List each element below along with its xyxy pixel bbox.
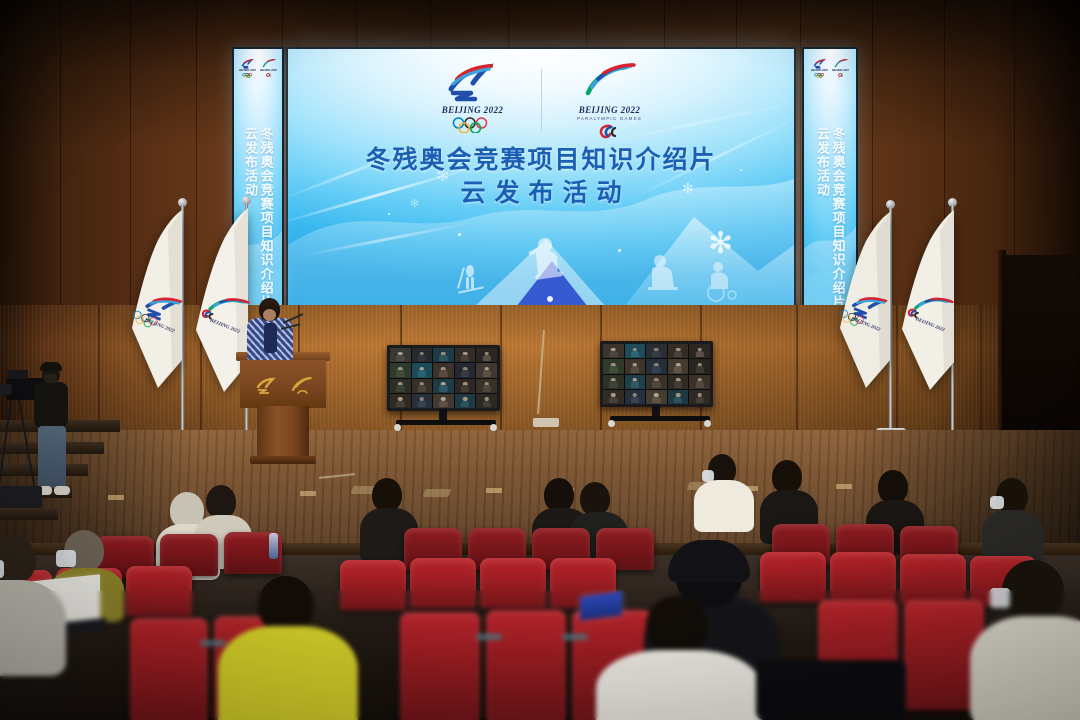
participant-tile	[625, 359, 646, 373]
operator-shoe	[54, 486, 70, 495]
face-mask-icon	[56, 550, 76, 567]
olympic-wordmark: BEIJING 2022	[442, 105, 504, 115]
participant-tile	[646, 359, 667, 373]
side-paralympic-wordmark: BEIJING 2022	[260, 69, 277, 72]
participant-tile	[689, 344, 710, 358]
beijing-2022-paralympic-emblem-icon	[574, 63, 646, 103]
auditorium-seat[interactable]	[830, 552, 896, 602]
face-mask-icon	[0, 560, 4, 578]
person-head	[878, 470, 908, 504]
beijing-2022-paralympic-emblem-icon	[832, 59, 850, 69]
beijing-2022-olympic-emblem-icon	[437, 63, 509, 103]
person-shoulders	[596, 650, 762, 720]
stage-power-box	[533, 418, 559, 427]
podium-body	[240, 360, 326, 408]
person-shoulders	[0, 580, 66, 676]
participant-tile-grid	[603, 344, 710, 404]
seat-armrest	[562, 634, 588, 640]
participant-tile	[433, 379, 454, 393]
equipment-body	[756, 660, 906, 720]
olympic-rings-icon	[242, 73, 254, 78]
camera-operator-left	[24, 358, 80, 508]
participant-tile	[390, 363, 411, 377]
participant-tile	[433, 394, 454, 408]
participant-tile	[455, 379, 476, 393]
participant-tile	[412, 363, 433, 377]
monitor-caster	[704, 420, 711, 427]
paralympic-agitos-icon	[837, 73, 845, 77]
side-olympic-emblem-block: BEIJING 2022	[239, 59, 257, 78]
paralympic-agitos-icon	[265, 73, 273, 77]
screen-emblem-row: BEIJING 2022	[288, 63, 794, 139]
person-shoulders	[218, 626, 358, 720]
olympic-rings-icon	[814, 73, 826, 78]
screen-title-line-1: 冬残奥会竞赛项目知识介绍片	[288, 145, 794, 175]
auditorium-seat[interactable]	[410, 558, 476, 608]
speaking-podium[interactable]	[240, 352, 326, 464]
beijing-2022-olympic-emblem-icon	[239, 59, 257, 69]
side-panel-emblem-row: BEIJING 2022 BEIJING 2022	[804, 49, 856, 78]
paralympic-emblem-block: BEIJING 2022 PARALYMPIC GAMES	[550, 63, 670, 139]
podium-emblem-left-icon	[252, 376, 278, 396]
snowflake-icon: ✻	[708, 229, 733, 259]
participant-tile	[646, 344, 667, 358]
conference-hall-photo: ✻ ✻ ✻ ✻ ✻ BEIJING 2022	[0, 0, 1080, 720]
speaker-at-podium	[247, 298, 293, 360]
snow-dot	[388, 213, 390, 215]
flag-paralympic-right: BEIJING 2022	[896, 198, 991, 450]
monitor-caster	[394, 424, 401, 431]
participant-tile	[455, 363, 476, 377]
participant-tile	[455, 394, 476, 408]
camera-hood	[8, 370, 28, 379]
participant-tile	[646, 375, 667, 389]
participant-tile	[412, 348, 433, 362]
svg-text:BEIJING 2022: BEIJING 2022	[208, 317, 241, 335]
participant-tile	[689, 359, 710, 373]
face-mask-icon	[990, 588, 1010, 608]
participant-tile	[433, 348, 454, 362]
participant-tile	[668, 375, 689, 389]
participant-tile	[668, 344, 689, 358]
seat-armrest	[476, 634, 502, 640]
participant-tile	[476, 348, 497, 362]
person-head	[1002, 560, 1064, 622]
monitor-stand-legs-left	[396, 420, 496, 425]
person-head	[772, 460, 802, 494]
olympic-emblem-block: BEIJING 2022	[413, 63, 533, 133]
participant-tile	[625, 344, 646, 358]
participant-tile	[625, 390, 646, 404]
person-head	[372, 478, 402, 512]
beijing-2022-paralympic-emblem-icon	[260, 59, 278, 69]
seat-armrest	[200, 640, 226, 646]
olympic-rings-icon	[451, 117, 495, 133]
participant-tile	[390, 348, 411, 362]
monitor-caster	[608, 420, 615, 427]
screen-title-block: 冬残奥会竞赛项目知识介绍片 云发布活动	[288, 145, 794, 213]
operator-torso	[34, 382, 68, 428]
floor-tape-marker	[486, 488, 502, 493]
water-bottle	[269, 533, 278, 559]
monitor-caster	[490, 424, 497, 431]
floor-outlet-plate	[423, 489, 452, 497]
paralympic-wordmark: BEIJING 2022	[579, 105, 641, 115]
participant-tile	[476, 363, 497, 377]
side-olympic-wordmark: BEIJING 2022	[811, 69, 828, 72]
person-head	[544, 478, 574, 512]
snow-dot	[618, 249, 621, 252]
person-head	[646, 596, 708, 656]
participant-tile	[390, 379, 411, 393]
emblem-divider	[541, 69, 542, 131]
video-conference-wall-right[interactable]	[600, 341, 713, 407]
face-mask-icon	[44, 374, 57, 383]
person-shoulders	[694, 480, 754, 532]
podium-base	[250, 456, 316, 464]
person-shoulders	[970, 616, 1080, 720]
participant-tile	[689, 375, 710, 389]
equipment-case	[0, 486, 42, 508]
participant-tile	[689, 390, 710, 404]
floor-tape-marker	[300, 491, 316, 496]
person-head	[580, 482, 610, 516]
participant-tile	[603, 390, 624, 404]
participant-tile	[412, 379, 433, 393]
participant-tile	[625, 375, 646, 389]
auditorium-seat[interactable]	[900, 554, 966, 604]
participant-tile-grid	[390, 348, 497, 408]
operator-cap	[40, 362, 62, 371]
podium-column	[257, 406, 309, 458]
auditorium-seat[interactable]	[486, 610, 566, 720]
side-paralympic-wordmark: BEIJING 2022	[832, 69, 849, 72]
participant-tile	[668, 390, 689, 404]
participant-tile	[433, 363, 454, 377]
svg-text:BEIJING 2022: BEIJING 2022	[914, 317, 946, 334]
participant-tile	[412, 394, 433, 408]
participant-tile	[603, 344, 624, 358]
side-panel-emblem-row: BEIJING 2022 BEIJING 2022	[234, 49, 282, 78]
video-conference-wall-left[interactable]	[387, 345, 500, 411]
beijing-2022-olympic-emblem-icon	[811, 59, 829, 69]
auditorium-seat[interactable]	[760, 552, 826, 602]
participant-tile	[668, 359, 689, 373]
speaker-inner-top	[264, 323, 277, 353]
side-olympic-emblem-block: BEIJING 2022	[811, 59, 829, 78]
podium-emblem-right-icon	[288, 376, 314, 396]
camera-lens	[0, 384, 12, 395]
snow-dot	[458, 233, 461, 236]
auditorium-seat[interactable]	[340, 560, 406, 610]
main-led-screen[interactable]: ✻ ✻ ✻ ✻ ✻ BEIJING 2022	[286, 47, 796, 309]
monitor-stand-legs-right	[610, 416, 710, 421]
floor-tape-marker	[836, 484, 852, 489]
speaker-face	[263, 309, 276, 321]
participant-tile	[646, 390, 667, 404]
auditorium-seat[interactable]	[400, 612, 480, 720]
participant-tile	[390, 394, 411, 408]
participant-tile	[476, 379, 497, 393]
face-mask-icon	[990, 496, 1004, 509]
auditorium-seat[interactable]	[126, 566, 192, 616]
side-olympic-wordmark: BEIJING 2022	[239, 69, 256, 72]
side-paralympic-emblem-block: BEIJING 2022	[832, 59, 850, 78]
side-paralympic-emblem-block: BEIJING 2022	[260, 59, 278, 78]
participant-tile	[455, 348, 476, 362]
auditorium-seat[interactable]	[130, 618, 208, 720]
participant-tile	[603, 359, 624, 373]
right-panel-text-col-2: 云发布活动	[815, 127, 829, 309]
person-head	[206, 485, 236, 519]
screen-title-line-2: 云发布活动	[288, 175, 794, 213]
participant-tile	[476, 394, 497, 408]
paralympic-agitos-icon	[595, 124, 625, 139]
screen-surface: ✻ ✻ ✻ ✻ ✻ BEIJING 2022	[288, 49, 794, 307]
auditorium-seat[interactable]	[480, 558, 546, 608]
operator-legs	[38, 426, 66, 488]
participant-tile	[603, 375, 624, 389]
paralympic-subtext: PARALYMPIC GAMES	[577, 116, 642, 121]
